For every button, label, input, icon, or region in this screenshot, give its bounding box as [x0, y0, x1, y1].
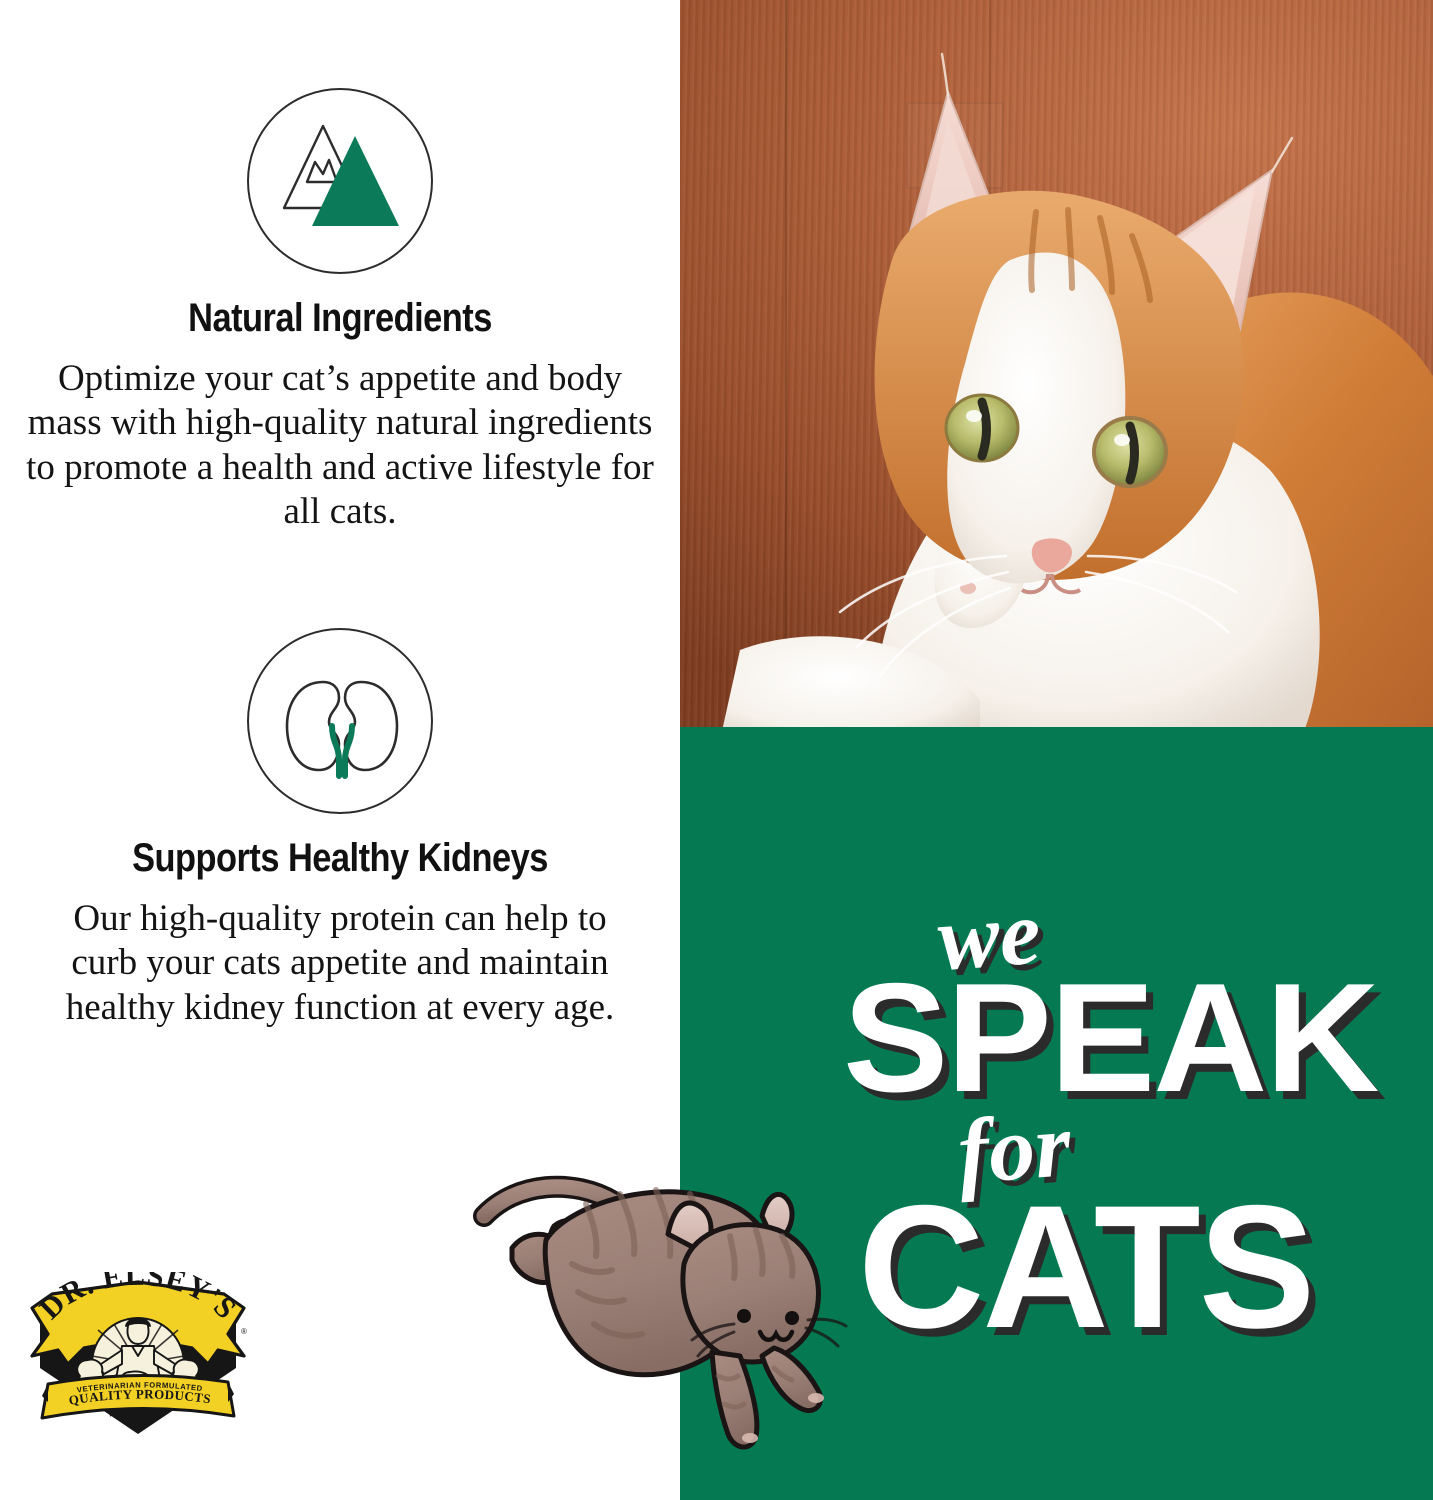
- feature-title: Natural Ingredients: [48, 296, 633, 341]
- leaping-tabby-cat-illustration: [462, 1168, 852, 1458]
- svg-text:®: ®: [241, 1327, 247, 1336]
- feature-body: Optimize your cat’s appetite and body ma…: [20, 357, 660, 535]
- kidneys-icon: [247, 628, 433, 814]
- feature-body: Our high-quality protein can help to cur…: [60, 897, 620, 1030]
- feature-title: Supports Healthy Kidneys: [48, 836, 633, 881]
- wordmark-speak: SPEAK: [843, 949, 1378, 1127]
- product-feature-graphic: Natural Ingredients Optimize your cat’s …: [0, 0, 1433, 1500]
- feature-block-supports-healthy-kidneys: Supports Healthy Kidneys Our high-qualit…: [0, 628, 680, 1030]
- dr-elseys-logo: VETERINARIAN FORMULATED QUALITY PRODUCTS…: [22, 1272, 254, 1440]
- cat-photo: [680, 0, 1433, 727]
- feature-block-natural-ingredients: Natural Ingredients Optimize your cat’s …: [0, 88, 680, 535]
- mountain-icon: [247, 88, 433, 274]
- wordmark-cats: CATS: [858, 1167, 1313, 1368]
